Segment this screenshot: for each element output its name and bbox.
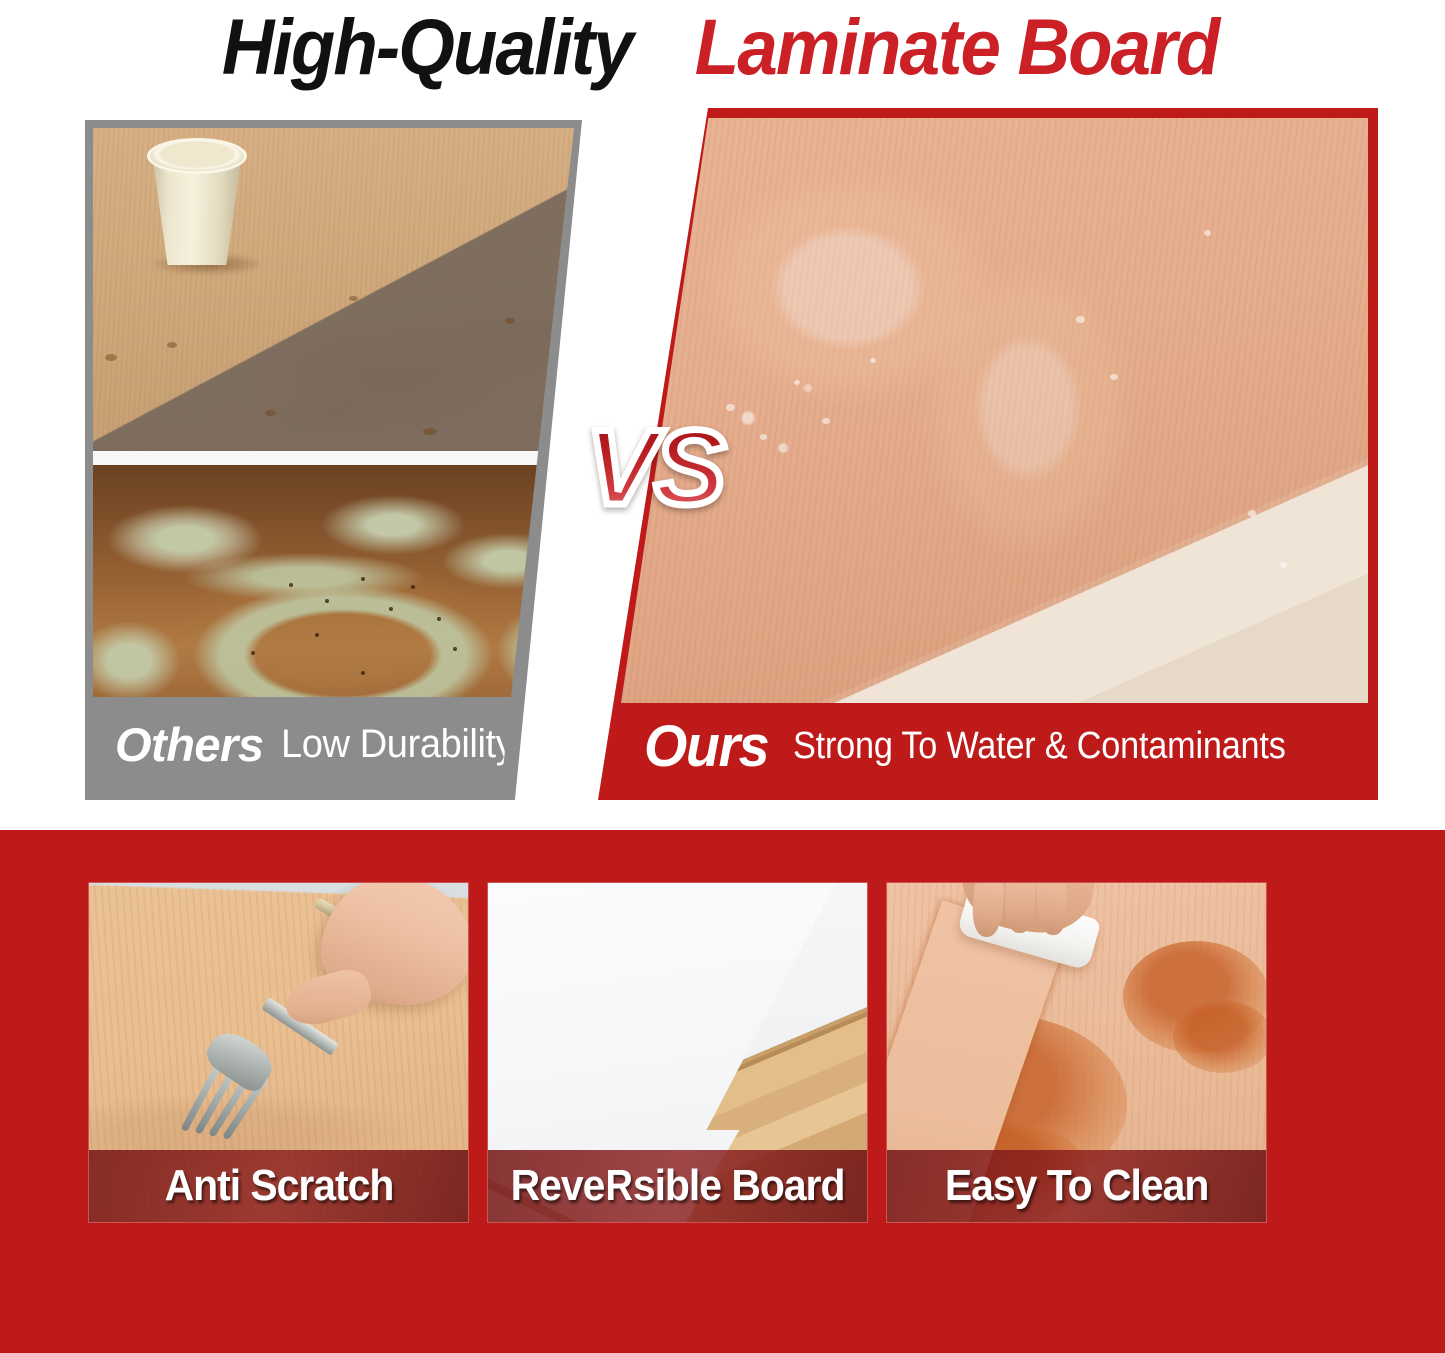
ours-label-bar: Ours Strong To Water & Contaminants xyxy=(598,703,1378,790)
water-bead xyxy=(822,418,830,424)
vs-badge: VS xyxy=(586,414,723,521)
spill-droplet xyxy=(167,342,177,348)
mold-speck xyxy=(437,617,441,621)
water-bead xyxy=(1110,374,1118,380)
spill-droplet xyxy=(423,428,437,435)
fork-head xyxy=(201,1024,279,1096)
mold-photo xyxy=(93,465,574,697)
cup-spill-photo xyxy=(93,128,574,451)
spill-droplet xyxy=(349,296,358,301)
others-title: Others xyxy=(115,717,264,772)
reversed-r-glyph: R xyxy=(605,1161,632,1211)
feature-label-segment-1: Reve xyxy=(511,1161,605,1210)
ours-title: Ours xyxy=(644,713,768,780)
mold-speck xyxy=(361,577,365,581)
feature-label-segment-2: sible Board xyxy=(633,1161,845,1210)
feature-card-row: Anti Scratch ReveRsible Board xyxy=(88,882,1368,1223)
feature-label-bar: ReveRsible Board xyxy=(488,1150,867,1222)
feature-label-bar: Anti Scratch xyxy=(89,1150,468,1222)
paper-cup-rim xyxy=(147,138,247,174)
mold-speck xyxy=(453,647,457,651)
water-bead xyxy=(870,358,876,363)
mold-speck xyxy=(251,651,255,655)
mold-speck xyxy=(361,671,365,675)
comparison-section: Others Low Durability VS Ours xyxy=(0,96,1445,811)
spill-droplet xyxy=(105,354,117,361)
sauce-spill xyxy=(1173,1001,1267,1073)
photo-divider xyxy=(93,451,574,465)
mold-speck xyxy=(315,633,319,637)
feature-label-bar: Easy To Clean xyxy=(887,1150,1266,1222)
others-subtitle: Low Durability xyxy=(281,722,514,767)
others-label-bar: Others Low Durability xyxy=(93,697,574,792)
water-bead xyxy=(1248,510,1256,517)
mold-speck xyxy=(411,585,415,589)
water-bead xyxy=(726,404,735,411)
feature-label-text: Easy To Clean xyxy=(945,1161,1208,1211)
features-section: Anti Scratch ReveRsible Board xyxy=(0,830,1445,1353)
others-panel-inner: Others Low Durability xyxy=(93,128,574,792)
mold-speck xyxy=(289,583,293,587)
headline-part-black: High-Quality xyxy=(222,7,632,86)
feature-card-reversible-board: ReveRsible Board xyxy=(487,882,868,1223)
feature-card-easy-to-clean: Easy To Clean xyxy=(886,882,1267,1223)
water-bead xyxy=(1076,316,1085,323)
mold-speck xyxy=(325,599,329,603)
water-bead xyxy=(1280,562,1287,568)
headline-part-red: Laminate Board xyxy=(695,7,1218,86)
feature-card-anti-scratch: Anti Scratch xyxy=(88,882,469,1223)
feature-label-text: Anti Scratch xyxy=(164,1161,393,1211)
water-bead xyxy=(760,434,767,440)
spill-droplet xyxy=(505,318,515,324)
others-panel: Others Low Durability xyxy=(85,120,582,800)
feature-label-text: ReveRsible Board xyxy=(511,1161,845,1211)
ours-subtitle: Strong To Water & Contaminants xyxy=(793,725,1286,768)
spill-droplet xyxy=(265,410,276,416)
mold-speck xyxy=(389,607,393,611)
water-bead xyxy=(794,380,800,385)
water-bead xyxy=(1204,230,1211,236)
page-title: High-Quality Laminate Board xyxy=(0,2,1445,90)
